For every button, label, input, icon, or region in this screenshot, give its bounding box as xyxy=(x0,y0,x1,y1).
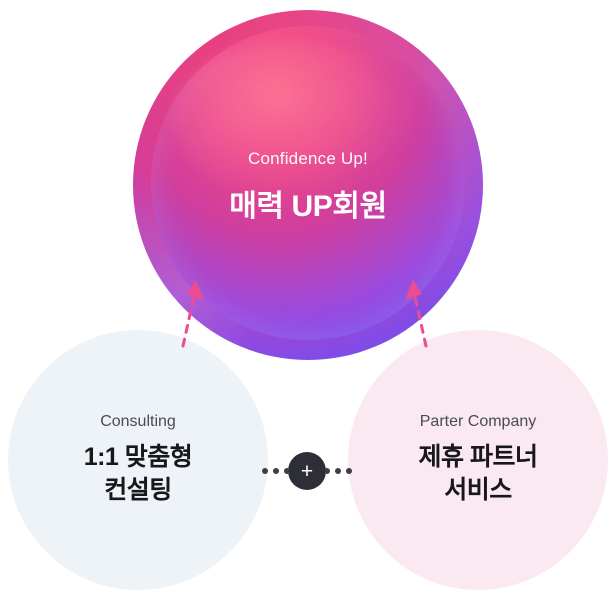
left-node-title-line1: 1:1 맞춤형 xyxy=(84,441,193,474)
diagram-canvas: Confidence Up! 매력 UP회원 Consulting 1:1 맞춤… xyxy=(0,0,615,600)
dotted-connector-right-icon xyxy=(326,468,352,474)
left-node-title-line2: 컨설팅 xyxy=(84,474,193,507)
dotted-connector-left-icon xyxy=(262,468,288,474)
left-node-title: 1:1 맞춤형 컨설팅 xyxy=(84,441,193,507)
arrow-left-to-top-icon xyxy=(170,278,210,348)
node-left-consulting[interactable]: Consulting 1:1 맞춤형 컨설팅 xyxy=(8,330,268,590)
right-node-title-line2: 서비스 xyxy=(419,474,538,507)
right-node-eyebrow: Parter Company xyxy=(420,413,537,431)
node-right-partner[interactable]: Parter Company 제휴 파트너 서비스 xyxy=(348,330,608,590)
top-node-eyebrow: Confidence Up! xyxy=(248,149,368,169)
left-node-eyebrow: Consulting xyxy=(100,413,176,431)
top-node-title: 매력 UP회원 xyxy=(229,181,387,225)
plus-badge-icon: + xyxy=(288,452,326,490)
right-node-title: 제휴 파트너 서비스 xyxy=(419,441,538,507)
arrow-right-to-top-icon xyxy=(399,278,439,348)
right-node-title-line1: 제휴 파트너 xyxy=(419,441,538,474)
